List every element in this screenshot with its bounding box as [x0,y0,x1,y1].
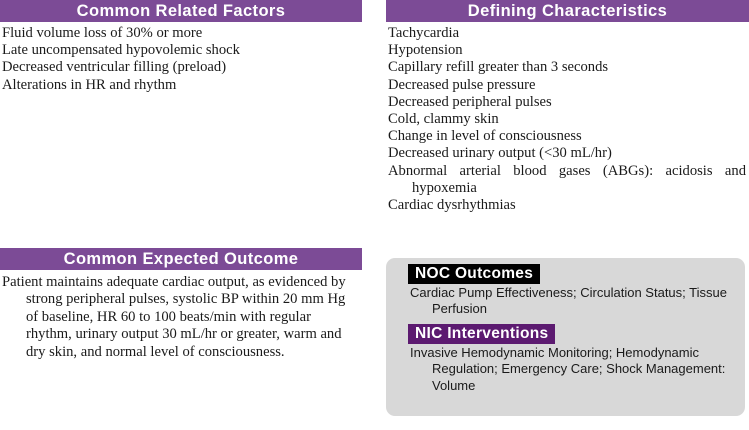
list-item: Cardiac dysrhythmias [386,197,749,214]
defining-characteristics-list: Tachycardia Hypotension Capillary refill… [386,22,749,214]
list-item: Hypotension [386,42,749,59]
list-item: Decreased peripheral pulses [386,94,749,111]
defining-characteristics-header: Defining Characteristics [386,0,749,22]
list-item: Tachycardia [386,25,749,42]
list-item: Alterations in HR and rhythm [0,77,362,94]
list-item: Cold, clammy skin [386,111,749,128]
nic-section: NIC Interventions Invasive Hemodynamic M… [408,324,735,394]
list-item: Fluid volume loss of 30% or more [0,25,362,42]
noc-nic-box: NOC Outcomes Cardiac Pump Effectiveness;… [386,258,745,416]
expected-outcome-text: Patient maintains adequate cardiac outpu… [0,270,362,361]
noc-section: NOC Outcomes Cardiac Pump Effectiveness;… [408,264,735,318]
list-item: Capillary refill greater than 3 seconds [386,59,749,76]
related-factors-header: Common Related Factors [0,0,362,22]
nic-interventions-badge: NIC Interventions [408,324,555,344]
list-item: Late uncompensated hypovolemic shock [0,42,362,59]
related-factors-list: Fluid volume loss of 30% or more Late un… [0,22,362,94]
expected-outcome-header: Common Expected Outcome [0,248,362,270]
nic-interventions-text: Invasive Hemodynamic Monitoring; Hemodyn… [408,344,735,394]
list-item: Decreased urinary output (<30 mL/hr) [386,145,749,162]
noc-outcomes-text: Cardiac Pump Effectiveness; Circulation … [408,284,735,318]
expected-outcome-panel: Common Expected Outcome Patient maintain… [0,248,362,361]
care-plan-page: Common Related Factors Fluid volume loss… [0,0,749,430]
list-item: Change in level of consciousness [386,128,749,145]
related-factors-panel: Common Related Factors Fluid volume loss… [0,0,362,94]
list-item: Abnormal arterial blood gases (ABGs): ac… [386,163,749,197]
noc-outcomes-badge: NOC Outcomes [408,264,540,284]
list-item: Decreased pulse pressure [386,77,749,94]
defining-characteristics-panel: Defining Characteristics Tachycardia Hyp… [386,0,749,214]
list-item: Decreased ventricular filling (preload) [0,59,362,76]
